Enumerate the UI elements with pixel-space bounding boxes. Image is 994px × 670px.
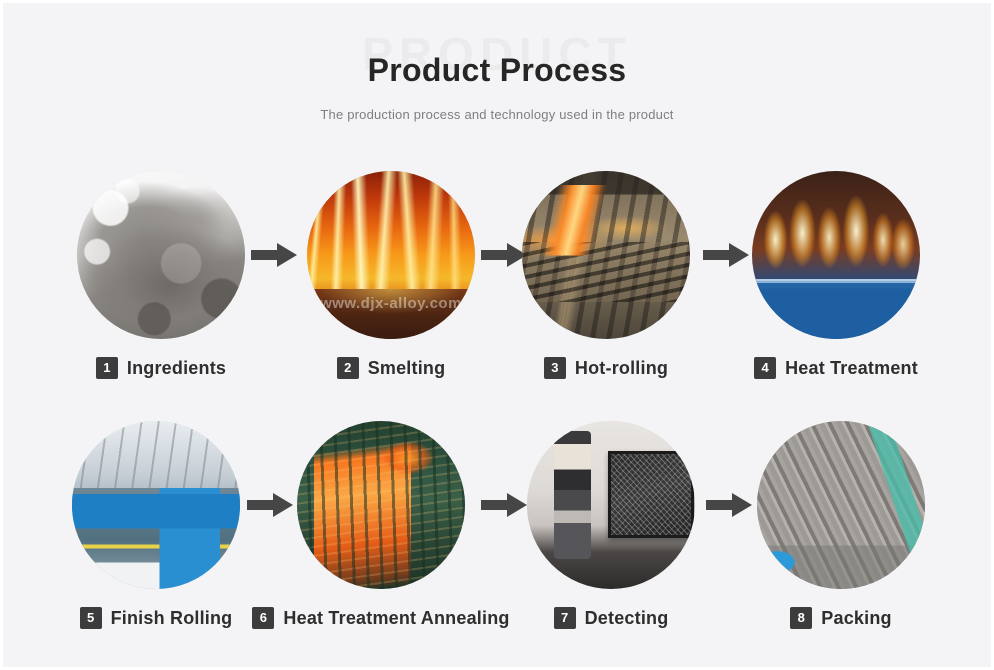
- process-row-1: 1 Ingredients www.djx-alloy.com 2 Smelti…: [3, 163, 991, 393]
- step-7-number-badge: 7: [554, 607, 576, 629]
- process-step-5[interactable]: 5 Finish Rolling: [66, 413, 246, 643]
- step-6-label-text: Heat Treatment Annealing: [283, 608, 509, 629]
- arrow-step-5-to-6: [247, 491, 293, 519]
- process-step-3[interactable]: 3 Hot-rolling: [516, 163, 696, 393]
- microscope-monitor-icon: [527, 421, 695, 589]
- product-process-infographic: PRODUCT Product Process The production p…: [0, 0, 994, 670]
- header: PRODUCT Product Process The production p…: [3, 3, 991, 153]
- step-8-label-text: Packing: [821, 608, 891, 629]
- step-5-number-badge: 5: [80, 607, 102, 629]
- step-1-label-text: Ingredients: [127, 358, 226, 379]
- step-6-image: [297, 421, 465, 589]
- process-row-2: 5 Finish Rolling 6 Heat Treatment Anneal…: [3, 413, 991, 643]
- process-step-7[interactable]: 7 Detecting: [521, 413, 701, 643]
- step-5-label: 5 Finish Rolling: [66, 607, 246, 629]
- process-step-1[interactable]: 1 Ingredients: [71, 163, 251, 393]
- process-step-2[interactable]: www.djx-alloy.com 2 Smelting: [301, 163, 481, 393]
- step-4-label: 4 Heat Treatment: [746, 357, 926, 379]
- step-4-number-badge: 4: [754, 357, 776, 379]
- page-title: Product Process: [3, 51, 991, 89]
- step-1-number-badge: 1: [96, 357, 118, 379]
- furnace-flames-icon: [752, 171, 920, 339]
- step-3-number-badge: 3: [544, 357, 566, 379]
- step-7-label-text: Detecting: [585, 608, 669, 629]
- step-6-number-badge: 6: [252, 607, 274, 629]
- rolling-mill-icon: [522, 171, 690, 339]
- step-2-label: 2 Smelting: [301, 357, 481, 379]
- annealing-furnace-icon: [297, 421, 465, 589]
- step-8-image: [757, 421, 925, 589]
- step-4-image: [752, 171, 920, 339]
- page-subtitle: The production process and technology us…: [3, 107, 991, 122]
- process-step-8[interactable]: 8 Packing: [751, 413, 931, 643]
- arrow-step-3-to-4: [703, 241, 749, 269]
- metal-powder-icon: [77, 171, 245, 339]
- step-1-image: [77, 171, 245, 339]
- process-step-6[interactable]: 6 Heat Treatment Annealing: [291, 413, 471, 643]
- process-step-4[interactable]: 4 Heat Treatment: [746, 163, 926, 393]
- arrow-step-1-to-2: [251, 241, 297, 269]
- step-8-number-badge: 8: [790, 607, 812, 629]
- step-7-image: [527, 421, 695, 589]
- step-1-label: 1 Ingredients: [71, 357, 251, 379]
- factory-hall-icon: [72, 421, 240, 589]
- step-2-number-badge: 2: [337, 357, 359, 379]
- step-7-label: 7 Detecting: [521, 607, 701, 629]
- step-2-label-text: Smelting: [368, 358, 446, 379]
- arrow-step-7-to-8: [706, 491, 752, 519]
- step-3-label-text: Hot-rolling: [575, 358, 668, 379]
- steel-bars-packing-icon: [757, 421, 925, 589]
- step-3-image: [522, 171, 690, 339]
- step-4-label-text: Heat Treatment: [785, 358, 918, 379]
- step-6-label: 6 Heat Treatment Annealing: [291, 607, 471, 629]
- step-3-label: 3 Hot-rolling: [516, 357, 696, 379]
- step-2-image: www.djx-alloy.com: [307, 171, 475, 339]
- step-5-image: [72, 421, 240, 589]
- step-5-label-text: Finish Rolling: [111, 608, 233, 629]
- step-8-label: 8 Packing: [751, 607, 931, 629]
- molten-metal-icon: [307, 171, 475, 339]
